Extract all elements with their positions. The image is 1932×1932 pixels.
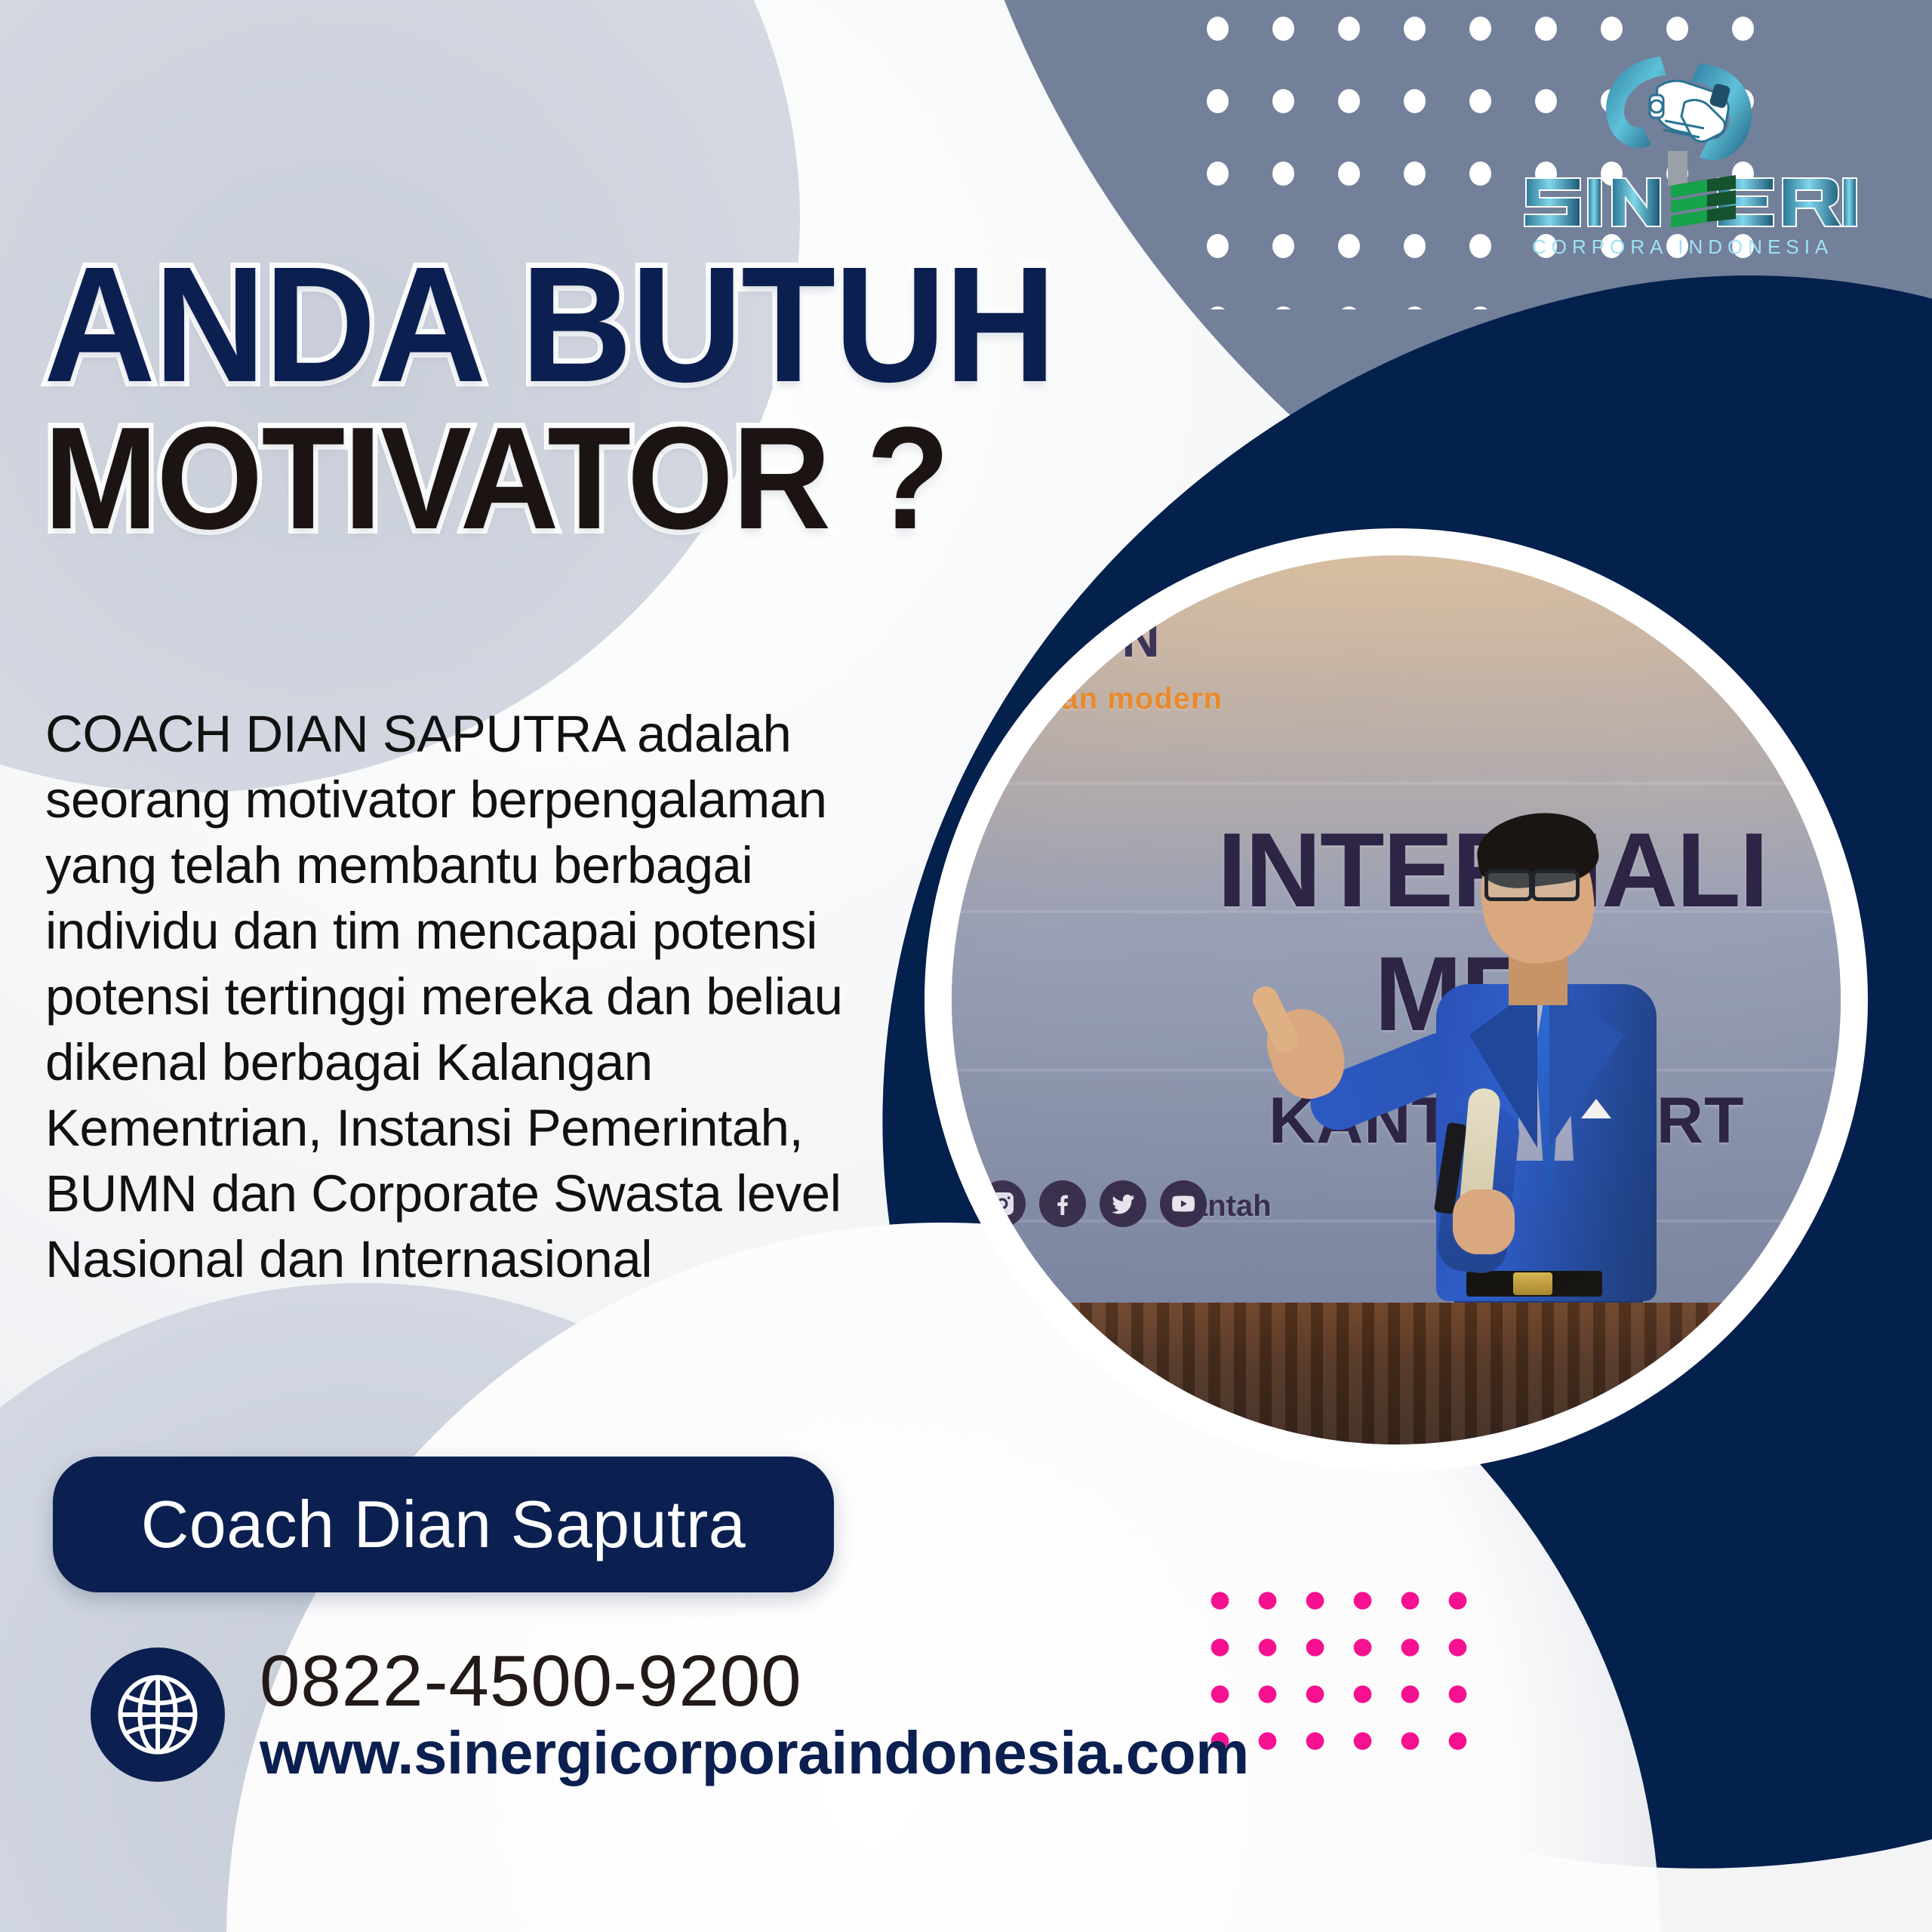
phone-number[interactable]: 0822-4500-9200 (260, 1644, 1249, 1718)
website-url[interactable]: www.sinergicorporaindonesia.com (260, 1721, 1249, 1785)
banner-org-text: BPN (1047, 608, 1161, 669)
twitter-icon (1100, 1180, 1146, 1227)
globe-icon (91, 1647, 225, 1782)
sinergi-logo: CORPORA INDONESIA (1509, 30, 1864, 279)
headline-line-1: ANDA BUTUH (44, 253, 1037, 398)
contact-block: 0822-4500-9200 www.sinergicorporaindones… (91, 1644, 1249, 1785)
headline-line-2: MOTIVATOR ? (44, 414, 1037, 543)
facebook-icon (1039, 1180, 1086, 1227)
banner-social-icons (979, 1180, 1207, 1227)
svg-text:CORPORA INDONESIA: CORPORA INDONESIA (1532, 235, 1833, 258)
banner-tagline-text: dan modern (1042, 682, 1223, 716)
page-title: ANDA BUTUH MOTIVATOR ? (44, 253, 1100, 543)
youtube-icon (1160, 1180, 1207, 1227)
poster-canvas: CORPORA INDONESIA BPN dan modern INTERNA… (0, 0, 1932, 1932)
coach-speaking-photo: BPN dan modern INTERNALI ME KANTOR PERT … (952, 555, 1841, 1444)
coach-photo-frame: BPN dan modern INTERNALI ME KANTOR PERT … (924, 528, 1868, 1472)
coach-name-button[interactable]: Coach Dian Saputra (53, 1457, 834, 1592)
instagram-icon (979, 1180, 1026, 1227)
stage-floor (952, 1303, 1841, 1444)
body-paragraph: COACH DIAN SAPUTRA adalah seorang motiva… (45, 702, 883, 1292)
coach-name-label: Coach Dian Saputra (141, 1486, 746, 1563)
